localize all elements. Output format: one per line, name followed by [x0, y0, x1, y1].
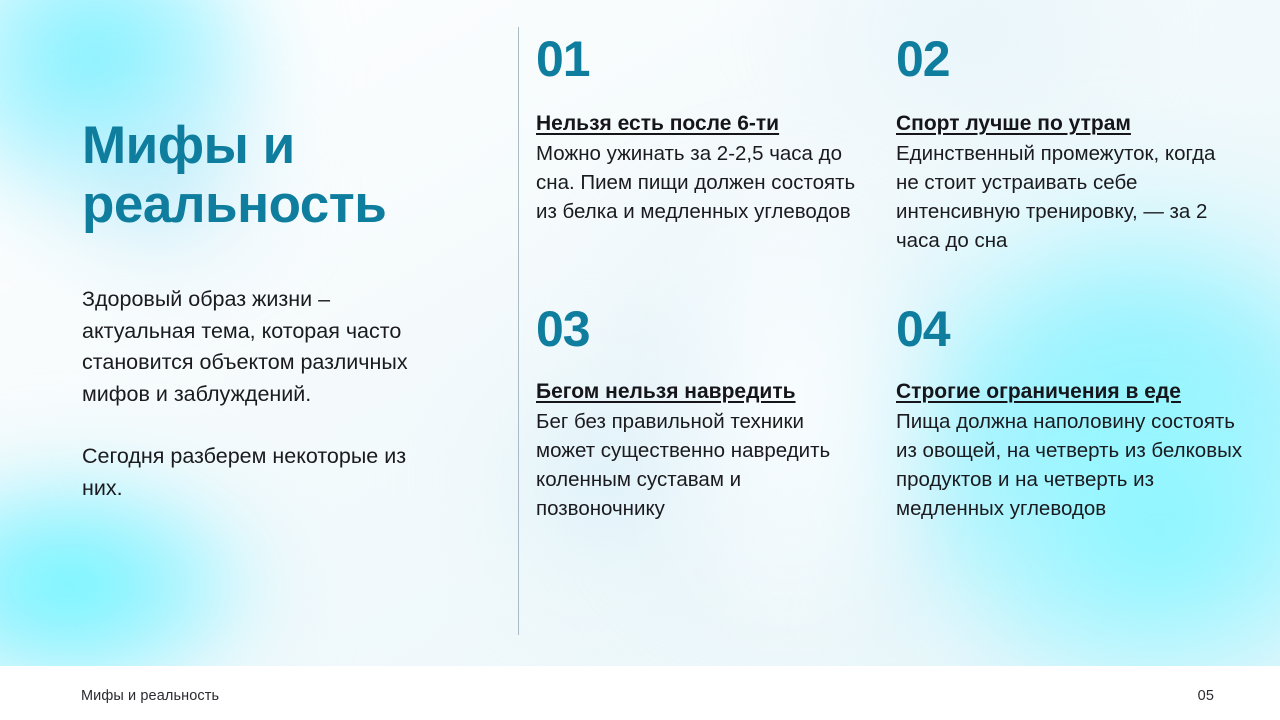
- myth-body-02: Единственный промежуток, когда не стоит …: [896, 140, 1226, 256]
- presentation-slide: Мифы и реальность Здоровый образ жизни –…: [0, 0, 1280, 720]
- myth-number-01: 01: [536, 34, 866, 84]
- myth-heading-02: Спорт лучше по утрам: [896, 110, 1226, 137]
- intro-column: Мифы и реальность Здоровый образ жизни –…: [82, 116, 502, 505]
- myth-number-03: 03: [536, 304, 866, 354]
- myth-heading-01: Нельзя есть после 6-ти: [536, 110, 866, 137]
- footer-label: Мифы и реальность: [81, 688, 219, 704]
- myth-body-03: Бег без правильной техники может существ…: [536, 408, 866, 524]
- myth-body-04: Пища должна наполовину состоять из овоще…: [896, 408, 1248, 524]
- footer-page-number: 05: [1198, 688, 1214, 704]
- myth-number-04: 04: [896, 304, 1248, 354]
- myth-item-02: 02 Спорт лучше по утрам Единственный про…: [896, 34, 1226, 256]
- myth-item-04: 04 Строгие ограничения в еде Пища должна…: [896, 304, 1248, 524]
- page-title: Мифы и реальность: [82, 116, 502, 235]
- myth-item-03: 03 Бегом нельзя навредить Бег без правил…: [536, 304, 866, 524]
- myth-number-02: 02: [896, 34, 1226, 84]
- footer: Мифы и реальность 05: [0, 666, 1280, 720]
- intro-paragraph-2: Сегодня разберем некоторые из них.: [82, 441, 502, 505]
- myth-heading-03: Бегом нельзя навредить: [536, 378, 866, 405]
- myth-body-01: Можно ужинать за 2-2,5 часа до сна. Пием…: [536, 140, 866, 227]
- intro-paragraph-1: Здоровый образ жизни – актуальная тема, …: [82, 284, 502, 411]
- myth-item-01: 01 Нельзя есть после 6-ти Можно ужинать …: [536, 34, 866, 256]
- slide-content: Мифы и реальность Здоровый образ жизни –…: [0, 0, 1280, 720]
- myths-grid: 01 Нельзя есть после 6-ти Можно ужинать …: [536, 34, 1256, 524]
- myth-heading-04: Строгие ограничения в еде: [896, 378, 1248, 405]
- column-divider: [518, 27, 519, 635]
